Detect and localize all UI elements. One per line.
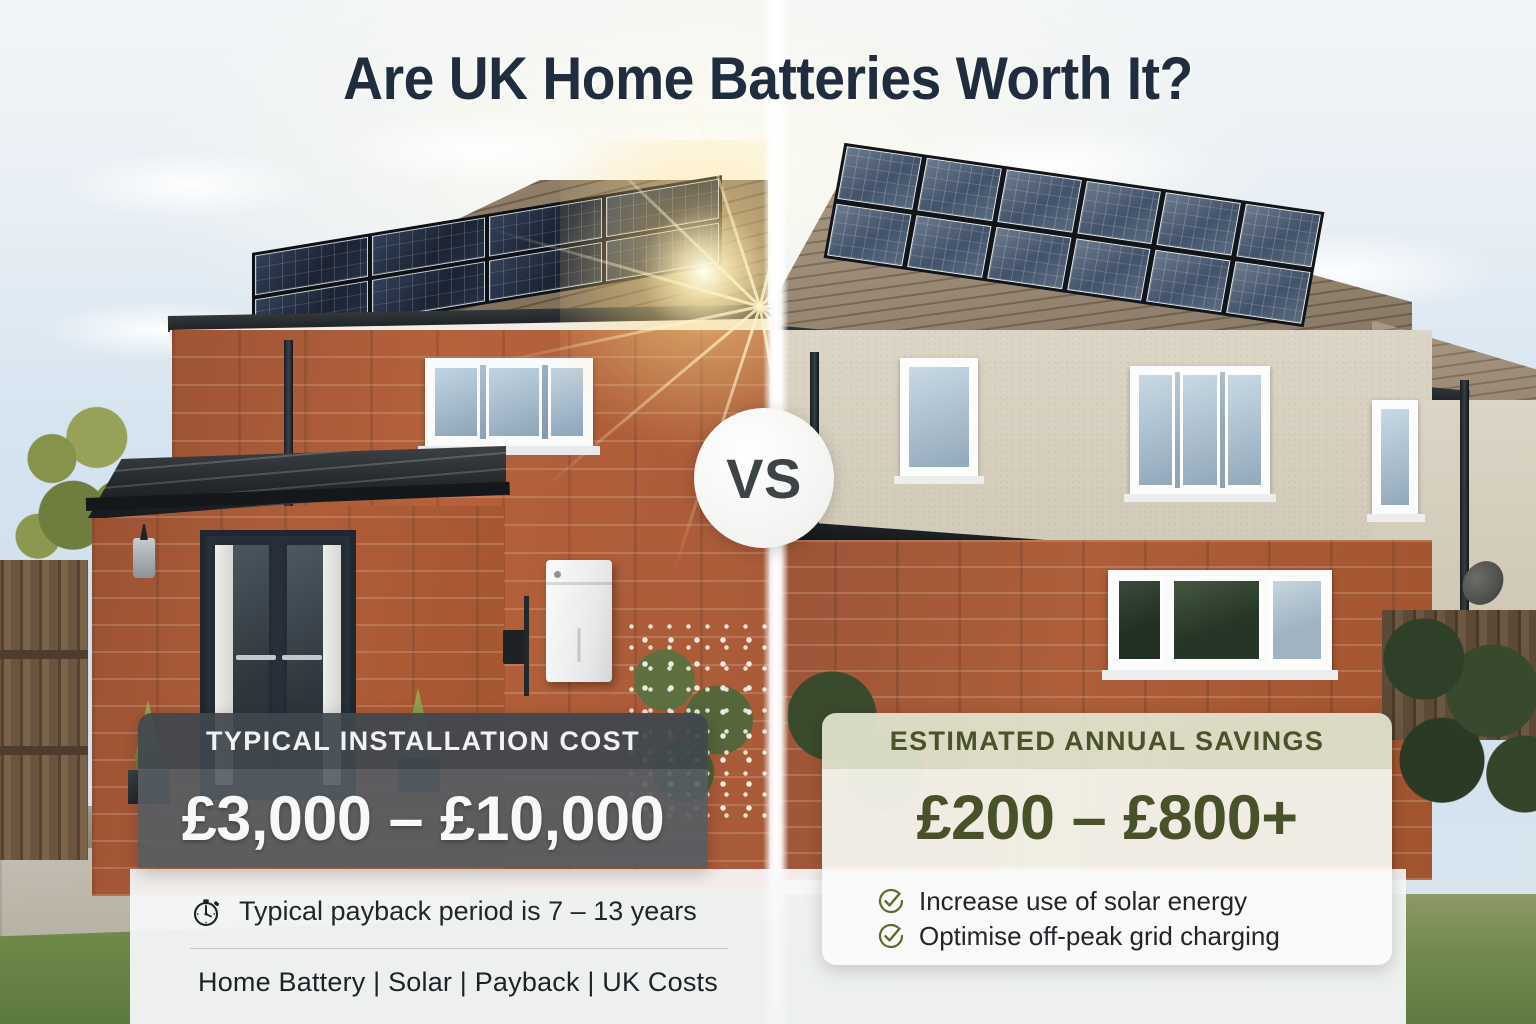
door-handle [236,655,276,660]
battery-indicator-dot [554,571,561,578]
hedge [1370,590,1536,820]
window-sill [1102,670,1338,680]
vs-badge: VS [694,408,834,548]
tags-row: Home Battery | Solar | Payback | UK Cost… [198,967,718,998]
payback-row: Typical payback period is 7 – 13 years [190,894,697,928]
upstairs-window [425,358,593,446]
vs-badge-label: VS [726,446,802,511]
cost-card-heading: TYPICAL INSTALLATION COST [206,726,640,757]
savings-card-value: £200 – £800+ [916,782,1297,854]
list-item: Increase use of solar energy [876,886,1392,917]
garden-fence [0,560,88,860]
benefit-label: Optimise off-peak grid charging [919,921,1280,952]
check-circle-icon [876,886,906,916]
upstairs-window [1372,400,1418,514]
list-item: Optimise off-peak grid charging [876,921,1392,952]
savings-card-value-band: £200 – £800+ [822,769,1392,866]
stopwatch-icon [190,894,224,928]
window-sill [894,476,984,484]
isolator-box [503,630,525,664]
savings-card-heading: ESTIMATED ANNUAL SAVINGS [890,726,1325,757]
cost-card: TYPICAL INSTALLATION COST £3,000 – £10,0… [138,713,708,868]
cost-card-value: £3,000 – £10,000 [182,783,664,855]
window-sill [1124,494,1276,502]
downstairs-window [1108,570,1332,670]
savings-card: ESTIMATED ANNUAL SAVINGS £200 – £800+ In… [822,713,1392,965]
page-title: Are UK Home Batteries Worth It? [61,47,1474,110]
benefits-list: Increase use of solar energy Optimise of… [822,866,1392,965]
check-circle-icon [876,921,906,951]
cost-card-header: TYPICAL INSTALLATION COST [138,713,708,769]
benefit-label: Increase use of solar energy [919,886,1247,917]
cost-card-value-band: £3,000 – £10,000 [138,769,708,868]
upstairs-window [1130,366,1270,494]
savings-card-header: ESTIMATED ANNUAL SAVINGS [822,713,1392,769]
infographic-canvas: VS Are UK Home Batteries Worth It? TYPIC… [0,0,1536,1024]
payback-note: Typical payback period is 7 – 13 years [239,896,697,927]
upstairs-window [900,358,978,476]
window-sill [1367,514,1425,522]
home-battery-unit [546,560,612,682]
wall-lamp [133,538,155,578]
footer-divider [190,948,728,949]
door-handle [282,655,322,660]
rendered-wall [772,330,1432,560]
cable-conduit [524,596,529,696]
